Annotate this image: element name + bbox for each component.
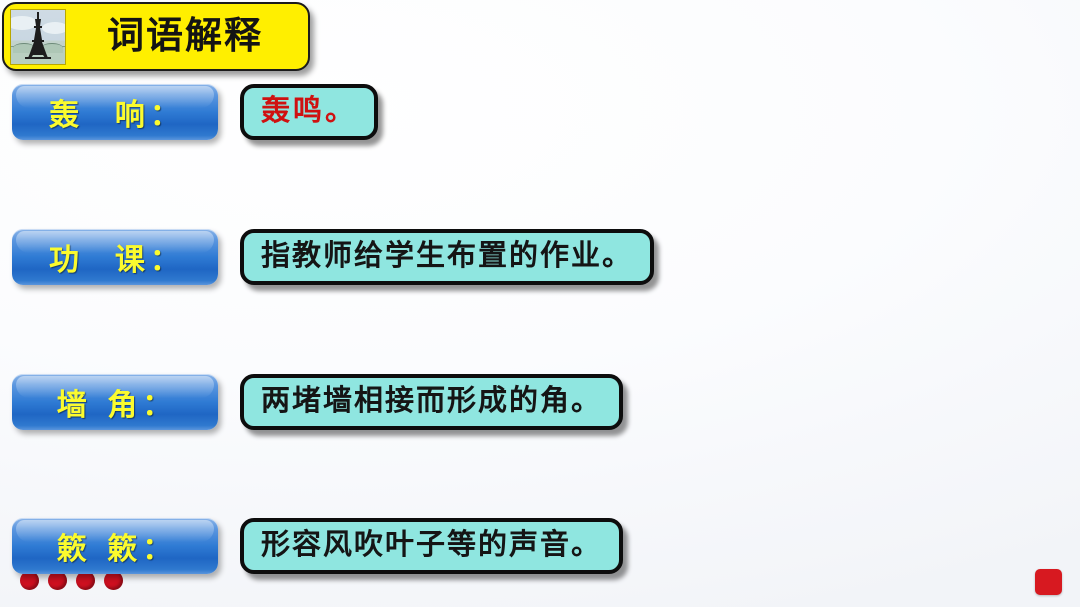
vocabulary-row: 功 课： 指教师给学生布置的作业。 [0,229,654,285]
slide-title-banner: 词语解释 [2,2,310,71]
vocabulary-row: 簌 簌： 形容风吹叶子等的声音。 [0,518,623,574]
definition-box-1[interactable]: 轰鸣。 [240,84,378,140]
eiffel-tower-thumbnail-icon [10,9,66,65]
term-label: 轰 响： [45,90,185,134]
next-slide-button[interactable] [1035,569,1062,595]
term-label: 簌 簌： [53,524,177,568]
page-title: 词语解释 [66,17,308,57]
definition-text: 两堵墙相接而形成的角。 [261,386,602,418]
definition-text: 指教师给学生布置的作业。 [261,241,633,273]
definition-text: 轰鸣。 [261,96,357,128]
term-button-1[interactable]: 轰 响： [12,84,218,140]
definition-box-2[interactable]: 指教师给学生布置的作业。 [240,229,654,285]
term-label: 功 课： [45,235,185,279]
definition-box-4[interactable]: 形容风吹叶子等的声音。 [240,518,623,574]
term-button-3[interactable]: 墙 角： [12,374,218,430]
term-label: 墙 角： [53,380,177,424]
vocabulary-row: 轰 响： 轰鸣。 [0,84,378,140]
definition-box-3[interactable]: 两堵墙相接而形成的角。 [240,374,623,430]
term-button-2[interactable]: 功 课： [12,229,218,285]
definition-text: 形容风吹叶子等的声音。 [261,530,602,562]
vocabulary-row: 墙 角： 两堵墙相接而形成的角。 [0,374,623,430]
term-button-4[interactable]: 簌 簌： [12,518,218,574]
